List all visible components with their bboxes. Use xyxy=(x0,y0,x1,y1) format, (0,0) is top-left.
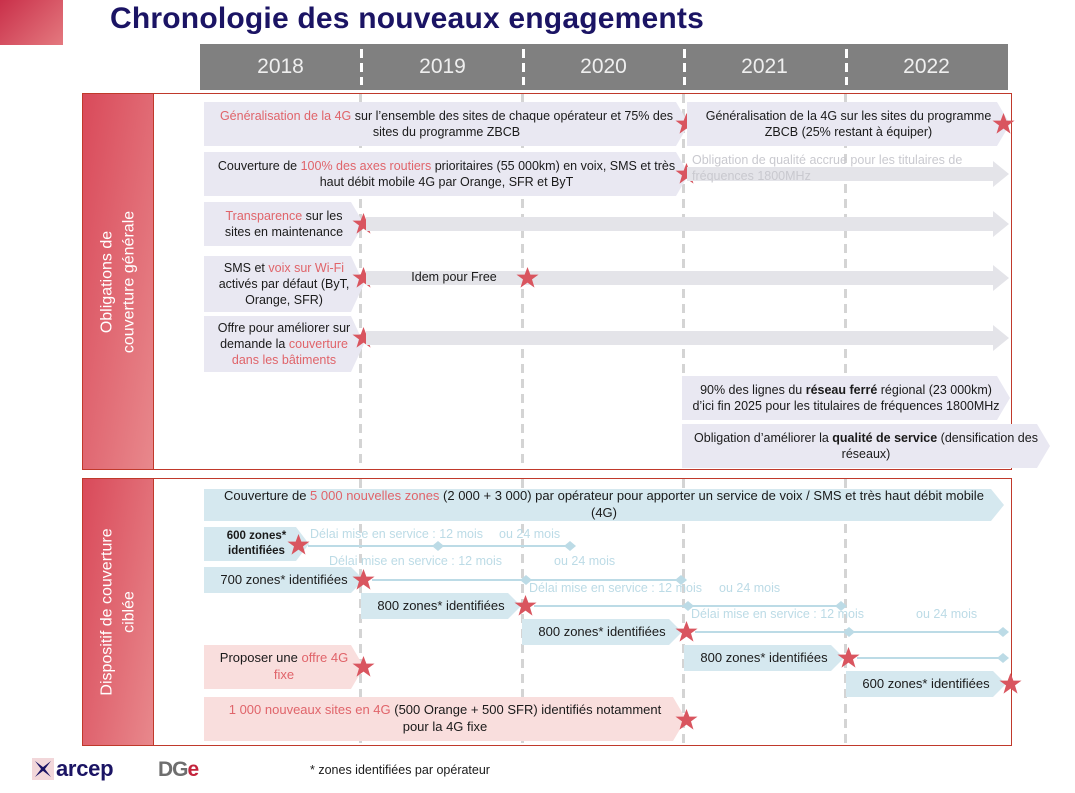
arcep-mark-icon xyxy=(32,758,54,780)
timeline-track-top: Généralisation de la 4G sur l’ensemble d… xyxy=(154,94,1011,469)
section-label-text: Dispositif de couvertureciblée xyxy=(96,528,139,695)
item-idem-pour-free: Idem pour Free xyxy=(394,266,514,288)
year-divider-2020-2021 xyxy=(683,49,686,85)
item-couverture-5000-nouvelles-zones: Couverture de 5 000 nouvelles zones (2 0… xyxy=(204,489,1004,521)
timeline-year-header: 2018 2019 2020 2021 2022 xyxy=(200,44,1008,90)
delay-label-12-mois: Délai mise en service : 12 mois xyxy=(310,527,483,541)
item-body-text: (500 Orange + 500 SFR) identifiés notamm… xyxy=(391,702,662,734)
item-prefix-text: Proposer une xyxy=(220,650,302,665)
item-body-text: Généralisation de la 4G sur les sites du… xyxy=(697,108,1000,140)
dge-logo-text-2: e xyxy=(188,758,199,781)
item-zones-800-b: 800 zones* identifiées xyxy=(522,619,682,645)
item-body-text: 600 zones* identifiées xyxy=(862,676,989,693)
item-generalisation-4g-tous-sites: Généralisation de la 4G sur l’ensemble d… xyxy=(204,102,689,146)
item-reseau-ferre-regional: 90% des lignes du réseau ferré régional … xyxy=(682,376,1010,420)
delay-bar-4 xyxy=(695,627,1009,637)
item-body-text: (2 000 + 3 000) par opérateur pour appor… xyxy=(439,488,984,520)
section-label-text: Obligations decouverture générale xyxy=(96,210,139,352)
item-obligation-qualite-accrue-1800mhz: Obligation de qualité accrue pour les ti… xyxy=(692,152,992,184)
timeline-track-bottom: Couverture de 5 000 nouvelles zones (2 0… xyxy=(154,479,1011,745)
item-body-text: 700 zones* identifiées xyxy=(220,572,347,589)
item-highlight-text: 1 000 nouveaux sites en 4G xyxy=(229,702,391,717)
arcep-logo: arcep xyxy=(32,756,113,782)
item-zones-800-a: 800 zones* identifiées xyxy=(361,593,521,619)
year-cell-2019: 2019 xyxy=(362,44,523,90)
delay-bar-1 xyxy=(308,541,576,551)
item-highlight-text: Généralisation de la 4G xyxy=(220,109,351,123)
dge-logo-text-1: DG xyxy=(158,758,188,781)
item-highlight-text: voix sur Wi-Fi xyxy=(268,261,344,275)
item-transparence-sites-maintenance: Transparence sur les sites en maintenanc… xyxy=(204,202,364,246)
item-zones-600-b: 600 zones* identifiées xyxy=(846,671,1006,697)
item-couverture-axes-routiers: Couverture de 100% des axes routiers pri… xyxy=(204,152,689,196)
page-title: Chronologie des nouveaux engagements xyxy=(110,2,910,36)
milestone-star xyxy=(287,533,310,556)
delay-label-12-mois: Délai mise en service : 12 mois xyxy=(329,554,502,568)
milestone-star xyxy=(999,672,1022,695)
item-prefix-text: Obligation d’améliorer la xyxy=(694,431,832,445)
item-body-text: 800 zones* identifiées xyxy=(377,598,504,615)
dge-logo: DGe xyxy=(158,758,198,782)
year-cell-2022: 2022 xyxy=(845,44,1008,90)
year-divider-2018-2019 xyxy=(360,49,363,85)
item-sms-voix-wifi: SMS et voix sur Wi-Fi activés par défaut… xyxy=(204,256,364,312)
year-cell-2020: 2020 xyxy=(523,44,684,90)
item-bold-text: qualité de service xyxy=(832,431,937,445)
footer: arcep DGe * zones identifiées par opérat… xyxy=(0,748,1075,793)
item-proposer-offre-4g-fixe: Proposer une offre 4G fixe xyxy=(204,645,364,689)
section-panel-dispositif-couverture-ciblee: Couverture de 5 000 nouvelles zones (2 0… xyxy=(153,478,1012,746)
item-body-text: 800 zones* identifiées xyxy=(700,650,827,667)
year-divider-2019-2020 xyxy=(522,49,525,85)
item-prefix-text: SMS et xyxy=(224,261,268,275)
milestone-star xyxy=(352,655,375,678)
corner-decoration xyxy=(0,0,63,45)
item-body-text: activés par défaut (ByT, Orange, SFR) xyxy=(219,277,350,307)
year-cell-2021: 2021 xyxy=(684,44,845,90)
item-qualite-de-service: Obligation d’améliorer la qualité de ser… xyxy=(682,424,1050,468)
section-label-obligations-couverture-generale: Obligations decouverture générale xyxy=(82,93,154,470)
delay-bar-5 xyxy=(857,653,1009,663)
ghost-arrow-transparence xyxy=(366,211,1009,237)
item-zones-700: 700 zones* identifiées xyxy=(204,567,364,593)
year-divider-2021-2022 xyxy=(845,49,848,85)
item-offre-couverture-batiments: Offre pour améliorer sur demande la couv… xyxy=(204,316,364,372)
year-cell-2018: 2018 xyxy=(200,44,361,90)
delay-label-12-mois: Délai mise en service : 12 mois xyxy=(529,581,702,595)
ghost-arrow-offre-batiments xyxy=(366,325,1009,351)
item-1000-nouveaux-sites-4g: 1 000 nouveaux sites en 4G (500 Orange +… xyxy=(204,697,686,741)
item-highlight-text: 100% des axes routiers xyxy=(301,159,432,173)
milestone-star xyxy=(992,112,1015,135)
delay-label-24-mois: ou 24 mois xyxy=(499,527,560,541)
item-prefix-text: Couverture de xyxy=(224,488,310,503)
item-body-text: 800 zones* identifiées xyxy=(538,624,665,641)
delay-label-24-mois: ou 24 mois xyxy=(554,554,615,568)
item-prefix-text: Couverture de xyxy=(218,159,301,173)
milestone-star xyxy=(675,708,698,731)
section-panel-obligations-couverture-generale: Généralisation de la 4G sur l’ensemble d… xyxy=(153,93,1012,470)
item-zones-800-c: 800 zones* identifiées xyxy=(684,645,844,671)
item-body-text: sur l’ensemble des sites de chaque opéra… xyxy=(351,109,673,139)
delay-label-24-mois: ou 24 mois xyxy=(916,607,977,621)
arcep-logo-text: arcep xyxy=(56,756,113,782)
item-highlight-text: Transparence xyxy=(226,209,303,223)
section-label-dispositif-couverture-ciblee: Dispositif de couvertureciblée xyxy=(82,478,154,746)
item-body-text: Idem pour Free xyxy=(411,269,496,285)
milestone-star xyxy=(516,266,539,289)
item-prefix-text: 90% des lignes du xyxy=(700,383,806,397)
footnote-text: * zones identifiées par opérateur xyxy=(310,763,490,777)
delay-label-24-mois: ou 24 mois xyxy=(719,581,780,595)
item-highlight-text: 5 000 nouvelles zones xyxy=(310,488,439,503)
item-generalisation-4g-zbcb: Généralisation de la 4G sur les sites du… xyxy=(687,102,1010,146)
item-bold-text: réseau ferré xyxy=(806,383,878,397)
delay-label-12-mois: Délai mise en service : 12 mois xyxy=(691,607,864,621)
